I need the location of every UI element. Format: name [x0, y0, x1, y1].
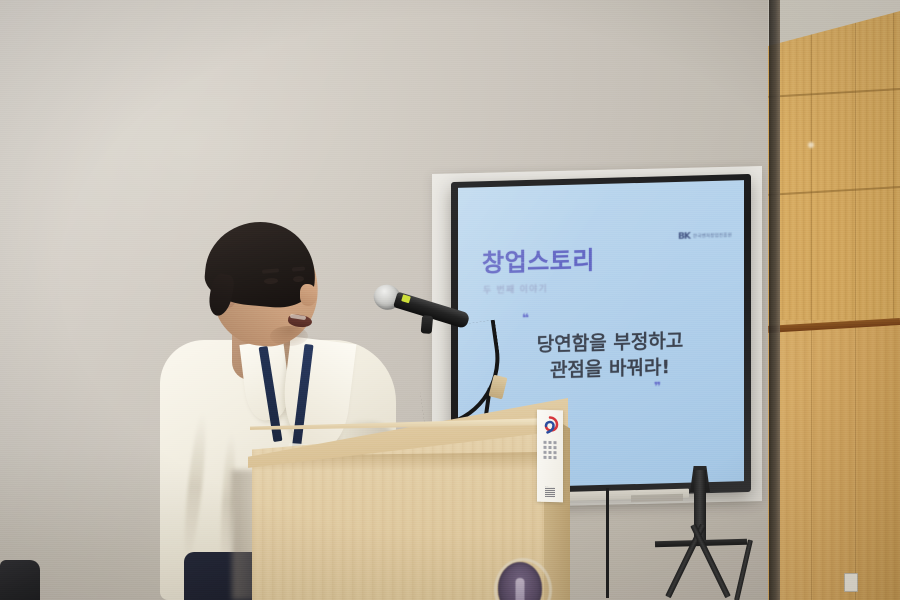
- quote-open-mark-icon: ❝: [522, 311, 529, 325]
- chin-shading: [270, 326, 308, 346]
- banner-glyph: [554, 451, 557, 454]
- banner-glyph: [554, 456, 557, 459]
- banner-text-column: [544, 441, 547, 459]
- banner-qr-code-icon: [545, 487, 555, 497]
- quote-close-mark-icon: ❞: [654, 379, 661, 393]
- chair-back: [0, 560, 40, 600]
- slide-logo-mark-icon: BK: [678, 232, 690, 242]
- banner-glyph: [544, 451, 547, 454]
- podium-seal-inner-mark: [516, 578, 525, 600]
- banner-vertical-text: [544, 441, 557, 459]
- wall-corner-edge: [769, 0, 780, 600]
- taegeuk-emblem-icon: [542, 416, 559, 435]
- banner-glyph: [549, 451, 552, 454]
- slide-logo: BK 한국벤처창업진흥원: [678, 230, 732, 241]
- wood-panel-seam: [768, 88, 900, 98]
- wood-panel-seam: [768, 186, 900, 196]
- wood-panel-wall-lower: [768, 320, 900, 600]
- banner-glyph: [554, 441, 557, 444]
- slide-quote: 당연함을 부정하고 관점을 바꿔라!: [506, 327, 714, 385]
- speaker-nose: [300, 284, 317, 306]
- banner-text-column: [549, 441, 552, 459]
- podium-banner: [537, 410, 563, 503]
- slide-subtitle: 두 번째 이야기: [483, 281, 548, 296]
- banner-glyph: [554, 446, 557, 449]
- presentation-photo: BK 한국벤처창업진흥원 창업스토리 두 번째 이야기 ❝ 당연함을 부정하고 …: [0, 0, 900, 600]
- wall-light-spot: [808, 142, 814, 148]
- slide-quote-line-2: 관점을 바꿔라!: [506, 353, 714, 385]
- banner-glyph: [549, 441, 552, 444]
- display-power-cable: [606, 488, 689, 598]
- wall-socket: [844, 573, 858, 592]
- banner-text-column: [554, 441, 557, 459]
- slide-title: 창업스토리: [482, 240, 595, 278]
- banner-glyph: [544, 446, 547, 449]
- slide-logo-text: 한국벤처창업진흥원: [693, 232, 732, 239]
- banner-glyph: [544, 441, 547, 444]
- banner-glyph: [549, 456, 552, 459]
- banner-glyph: [549, 446, 552, 449]
- wood-grain-line: [855, 320, 856, 600]
- banner-glyph: [544, 456, 547, 459]
- wood-grain-line: [811, 320, 812, 600]
